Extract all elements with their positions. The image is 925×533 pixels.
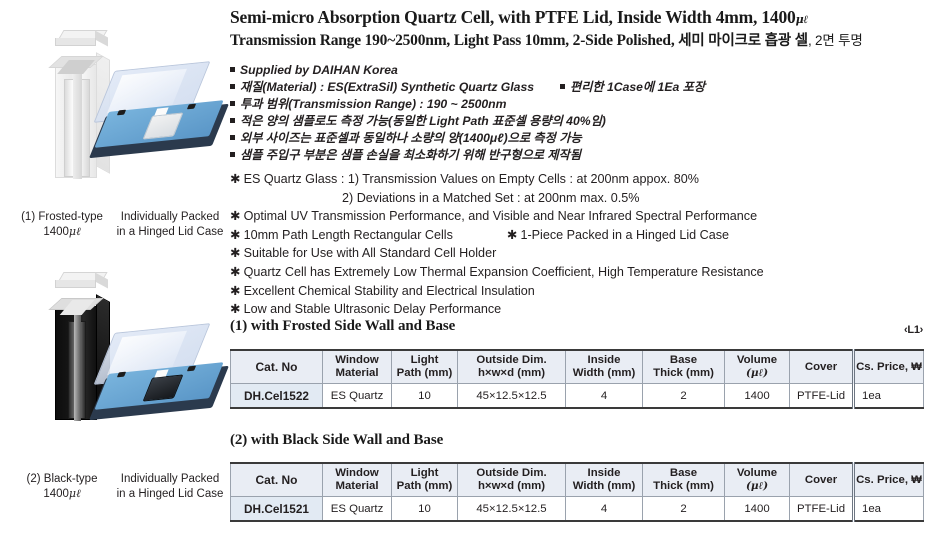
header-volume: Volume(μℓ) (725, 350, 790, 384)
header-line-2: Width (mm) (573, 367, 636, 379)
header-line-2: h×w×d (mm) (478, 480, 545, 492)
cell-cover: PTFE-Lid (790, 497, 854, 522)
feature-item: ✱Low and Stable Ultrasonic Delay Perform… (230, 300, 925, 319)
header-line-1: Light (411, 354, 439, 366)
lid-front-face (55, 38, 96, 46)
header-line-2: Thick (mm) (653, 367, 714, 379)
asterisk-icon: ✱ (230, 302, 241, 316)
feature-text: ES Quartz Glass : 1) Transmission Values… (244, 172, 699, 186)
header-inside-width: InsideWidth (mm) (566, 463, 643, 497)
bullet-item: 외부 사이즈는 표준셀과 동일하나 소량의 양(1400μℓ)으로 측정 가능 (230, 130, 925, 147)
content-column: Semi-micro Absorption Quartz Cell, with … (230, 0, 925, 533)
square-bullet-icon (230, 135, 235, 140)
cuvette-lid (55, 30, 111, 46)
page-title-text: Semi-micro Absorption Quartz Cell, with … (230, 7, 796, 27)
bullet-text: 적은 양의 샘플로도 측정 가능(동일한 Light Path 표준셀 용량의 … (240, 114, 606, 128)
header-line-1: Cs. Price, ₩ (856, 361, 922, 373)
header-line-1: Cat. No (256, 473, 298, 487)
caption-line-1: Individually Packed (112, 210, 228, 225)
header-line-1: Inside (588, 467, 621, 479)
header-cat-no: Cat. No (231, 350, 323, 384)
caption-line-2: in a Hinged Lid Case (112, 225, 228, 240)
bullet-secondary-text: 편리한 1Case에 1Ea 포장 (570, 80, 705, 94)
figure-column: (1) Frosted-type 1400μℓ Individually Pac… (0, 0, 228, 533)
bullet-item: 샘플 주입구 부분은 샘플 손실을 최소화하기 위해 반구형으로 제작됨 (230, 147, 925, 164)
feature-item: ✱Optimal UV Transmission Performance, an… (230, 207, 925, 226)
header-cat-no: Cat. No (231, 463, 323, 497)
cell-window-material: ES Quartz (323, 384, 392, 409)
figure-frosted-caption-left: (1) Frosted-type 1400μℓ (10, 210, 114, 239)
header-cs-price: Cs. Price, ₩ (854, 350, 924, 384)
caption-line-2: in a Hinged Lid Case (112, 487, 228, 502)
figure-frosted-stage (0, 4, 228, 209)
page-title-unit: μℓ (796, 13, 808, 26)
feature-item: ✱ES Quartz Glass : 1) Transmission Value… (230, 170, 925, 189)
header-line-2: Path (mm) (397, 367, 453, 379)
table-header-row: Cat. No WindowMaterial LightPath (mm) Ou… (231, 350, 924, 384)
cell-cat-no: DH.Cel1521 (231, 497, 323, 522)
asterisk-icon: ✱ (230, 284, 241, 298)
feature-text: Optimal UV Transmission Performance, and… (244, 209, 758, 223)
header-line-1: Base (670, 467, 697, 479)
catalog-page: (1) Frosted-type 1400μℓ Individually Pac… (0, 0, 925, 533)
header-line-1: Window (335, 354, 379, 366)
header-window-material: WindowMaterial (323, 463, 392, 497)
cell-cs-price: 1ea (854, 497, 924, 522)
bullet-list: Supplied by DAIHAN Korea 재질(Material) : … (230, 62, 925, 164)
feature-list: ✱ES Quartz Glass : 1) Transmission Value… (230, 170, 925, 319)
subtitle-text-b: , 2면 투명 (808, 33, 863, 48)
square-bullet-icon (230, 67, 235, 72)
asterisk-icon: ✱ (230, 265, 241, 279)
feature-item: ✱Quartz Cell has Extremely Low Thermal E… (230, 263, 925, 282)
cell-cat-no: DH.Cel1522 (231, 384, 323, 409)
header-line-2: Width (mm) (573, 480, 636, 492)
header-line-1: Volume (737, 354, 777, 366)
cell-volume: 1400 (725, 497, 790, 522)
square-bullet-icon (230, 118, 235, 123)
asterisk-icon: ✱ (507, 228, 518, 242)
feature-text: Quartz Cell has Extremely Low Thermal Ex… (244, 265, 764, 279)
cell-cs-price: 1ea (854, 384, 924, 409)
section-heading-frosted: (1) with Frosted Side Wall and Base (230, 318, 455, 335)
lid-front-face (55, 280, 96, 288)
header-line-2: Path (mm) (397, 480, 453, 492)
cuvette-inner-wall (73, 73, 82, 179)
header-cover: Cover (790, 350, 854, 384)
header-line-1: Inside (588, 354, 621, 366)
header-line-2: (μℓ) (746, 480, 768, 492)
figure-black-caption-right: Individually Packed in a Hinged Lid Case (112, 472, 228, 501)
table-row: DH.Cel1522 ES Quartz 10 45×12.5×12.5 4 2… (231, 384, 924, 409)
header-line-1: Cs. Price, ₩ (856, 474, 922, 486)
header-outside-dim: Outside Dim.h×w×d (mm) (458, 350, 566, 384)
feature-text: Suitable for Use with All Standard Cell … (244, 246, 497, 260)
header-line-1: Volume (737, 467, 777, 479)
header-volume: Volume(μℓ) (725, 463, 790, 497)
bullet-text: 외부 사이즈는 표준셀과 동일하나 소량의 양(1400μℓ)으로 측정 가능 (240, 131, 582, 145)
cell-outside-dim: 45×12.5×12.5 (458, 384, 566, 409)
figure-black-caption-left: (2) Black-type 1400μℓ (10, 472, 114, 501)
cell-base-thick: 2 (643, 497, 725, 522)
bullet-text: 샘플 주입구 부분은 샘플 손실을 최소화하기 위해 반구형으로 제작됨 (240, 148, 581, 162)
header-line-1: Outside Dim. (476, 467, 546, 479)
bullet-secondary: 편리한 1Case에 1Ea 포장 (560, 79, 705, 96)
table-row: DH.Cel1521 ES Quartz 10 45×12.5×12.5 4 2… (231, 497, 924, 522)
l1-marker: ‹L1› (904, 324, 923, 336)
bullet-item: Supplied by DAIHAN Korea (230, 62, 925, 79)
bullet-item: 적은 양의 샘플로도 측정 가능(동일한 Light Path 표준셀 용량의 … (230, 113, 925, 130)
table-header-row: Cat. No WindowMaterial LightPath (mm) Ou… (231, 463, 924, 497)
figure-black-stage (0, 256, 228, 471)
header-line-2: Thick (mm) (653, 480, 714, 492)
feature-item: 2) Deviations in a Matched Set : at 200n… (230, 189, 925, 208)
bullet-text: 투과 범위(Transmission Range) : 190 ~ 2500nm (240, 97, 506, 111)
cuvette-front-face (55, 306, 97, 420)
caption-line-2: 1400μℓ (10, 225, 114, 240)
cuvette-front-face (55, 64, 97, 178)
header-base-thick: BaseThick (mm) (643, 463, 725, 497)
header-line-1: Cat. No (256, 360, 298, 374)
caption-volume-unit: μℓ (69, 225, 81, 238)
header-light-path: LightPath (mm) (392, 463, 458, 497)
header-line-1: Cover (805, 474, 837, 486)
header-cover: Cover (790, 463, 854, 497)
bullet-item: 투과 범위(Transmission Range) : 190 ~ 2500nm (230, 96, 925, 113)
caption-line-2: 1400μℓ (10, 487, 114, 502)
header-line-2: Material (335, 367, 378, 379)
feature-secondary-text: 1-Piece Packed in a Hinged Lid Case (520, 228, 729, 242)
spec-table-black: Cat. No WindowMaterial LightPath (mm) Ou… (230, 462, 924, 522)
square-bullet-icon (560, 84, 565, 89)
cell-window-material: ES Quartz (323, 497, 392, 522)
subtitle-korean: 세미 마이크로 흡광 셀 (678, 33, 808, 49)
header-window-material: WindowMaterial (323, 350, 392, 384)
feature-item: ✱Suitable for Use with All Standard Cell… (230, 244, 925, 263)
asterisk-icon: ✱ (230, 246, 241, 260)
caption-line-1: (2) Black-type (10, 472, 114, 487)
caption-volume: 1400 (43, 226, 69, 238)
header-line-2: Material (335, 480, 378, 492)
header-inside-width: InsideWidth (mm) (566, 350, 643, 384)
header-line-1: Window (335, 467, 379, 479)
header-line-1: Light (411, 467, 439, 479)
cell-outside-dim: 45×12.5×12.5 (458, 497, 566, 522)
caption-volume: 1400 (43, 488, 69, 500)
section-heading-black: (2) with Black Side Wall and Base (230, 432, 443, 449)
bullet-text: 재질(Material) : ES(ExtraSil) Synthetic Qu… (240, 80, 534, 94)
square-bullet-icon (230, 101, 235, 106)
feature-secondary: ✱1-Piece Packed in a Hinged Lid Case (507, 226, 729, 245)
bullet-text: Supplied by DAIHAN Korea (240, 63, 398, 77)
figure-black-type: (2) Black-type 1400μℓ Individually Packe… (0, 256, 228, 533)
cell-volume: 1400 (725, 384, 790, 409)
square-bullet-icon (230, 152, 235, 157)
asterisk-icon: ✱ (230, 172, 241, 186)
header-line-1: Base (670, 354, 697, 366)
cell-inside-width: 4 (566, 497, 643, 522)
cuvette-lid (55, 272, 111, 288)
feature-text: Low and Stable Ultrasonic Delay Performa… (244, 302, 502, 316)
feature-text: 2) Deviations in a Matched Set : at 200n… (342, 191, 640, 205)
feature-text: Excellent Chemical Stability and Electri… (244, 284, 535, 298)
page-subtitle: Transmission Range 190~2500nm, Light Pas… (230, 30, 925, 52)
caption-line-1: Individually Packed (112, 472, 228, 487)
caption-volume-unit: μℓ (69, 487, 81, 500)
figure-frosted-caption-right: Individually Packed in a Hinged Lid Case (112, 210, 228, 239)
header-line-1: Cover (805, 361, 837, 373)
cell-light-path: 10 (392, 384, 458, 409)
cell-inside-width: 4 (566, 384, 643, 409)
page-title: Semi-micro Absorption Quartz Cell, with … (230, 6, 925, 31)
asterisk-icon: ✱ (230, 209, 241, 223)
header-base-thick: BaseThick (mm) (643, 350, 725, 384)
square-bullet-icon (230, 84, 235, 89)
header-outside-dim: Outside Dim.h×w×d (mm) (458, 463, 566, 497)
feature-item: ✱Excellent Chemical Stability and Electr… (230, 282, 925, 301)
header-cs-price: Cs. Price, ₩ (854, 463, 924, 497)
header-line-1: Outside Dim. (476, 354, 546, 366)
cell-base-thick: 2 (643, 384, 725, 409)
figure-frosted-type: (1) Frosted-type 1400μℓ Individually Pac… (0, 4, 228, 254)
cell-light-path: 10 (392, 497, 458, 522)
spec-table-frosted: Cat. No WindowMaterial LightPath (mm) Ou… (230, 349, 924, 409)
asterisk-icon: ✱ (230, 228, 241, 242)
cell-cover: PTFE-Lid (790, 384, 854, 409)
cuvette-inner-wall (74, 313, 81, 421)
feature-text: 10mm Path Length Rectangular Cells (244, 228, 453, 242)
subtitle-text-a: Transmission Range 190~2500nm, Light Pas… (230, 32, 678, 49)
feature-item: ✱10mm Path Length Rectangular Cells✱1-Pi… (230, 226, 925, 245)
caption-line-1: (1) Frosted-type (10, 210, 114, 225)
header-line-2: h×w×d (mm) (478, 367, 545, 379)
header-light-path: LightPath (mm) (392, 350, 458, 384)
bullet-item: 재질(Material) : ES(ExtraSil) Synthetic Qu… (230, 79, 925, 96)
header-line-2: (μℓ) (746, 367, 768, 379)
